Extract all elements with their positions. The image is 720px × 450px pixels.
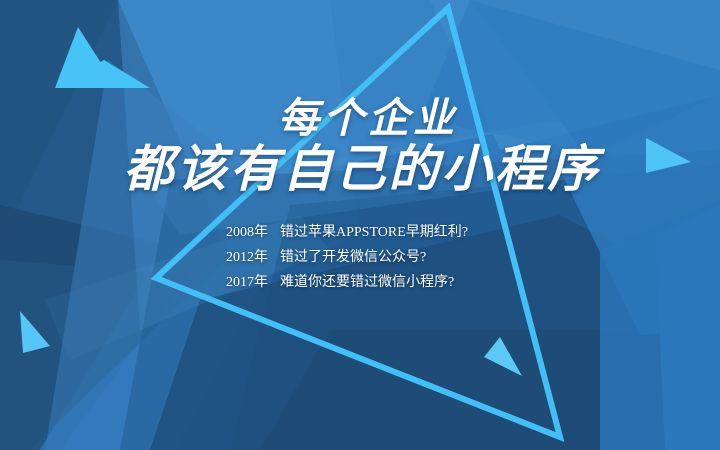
list-item: 2008年 错过苹果APPSTORE早期红利? (226, 226, 556, 240)
headline-line-2: 都该有自己的小程序 (0, 144, 720, 194)
bullet-year: 2017年 (226, 276, 280, 290)
list-item: 2012年 错过了开发微信公众号? (226, 251, 556, 265)
bullet-year: 2012年 (226, 251, 280, 265)
bullet-text: 难道你还要错过微信小程序? (280, 276, 454, 290)
bullet-text: 错过了开发微信公众号? (280, 251, 426, 265)
bullet-year: 2008年 (226, 226, 280, 240)
headline-line-1: 每个企业 (0, 98, 720, 139)
bullet-text: 错过苹果APPSTORE早期红利? (280, 226, 468, 240)
page-title: 每个企业 都该有自己的小程序 (0, 98, 720, 194)
bullet-list: 2008年 错过苹果APPSTORE早期红利? 2012年 错过了开发微信公众号… (226, 226, 556, 290)
slide-content: 每个企业 都该有自己的小程序 2008年 错过苹果APPSTORE早期红利? 2… (0, 0, 720, 450)
presentation-slide: 每个企业 都该有自己的小程序 2008年 错过苹果APPSTORE早期红利? 2… (0, 0, 720, 450)
list-item: 2017年 难道你还要错过微信小程序? (226, 276, 556, 290)
